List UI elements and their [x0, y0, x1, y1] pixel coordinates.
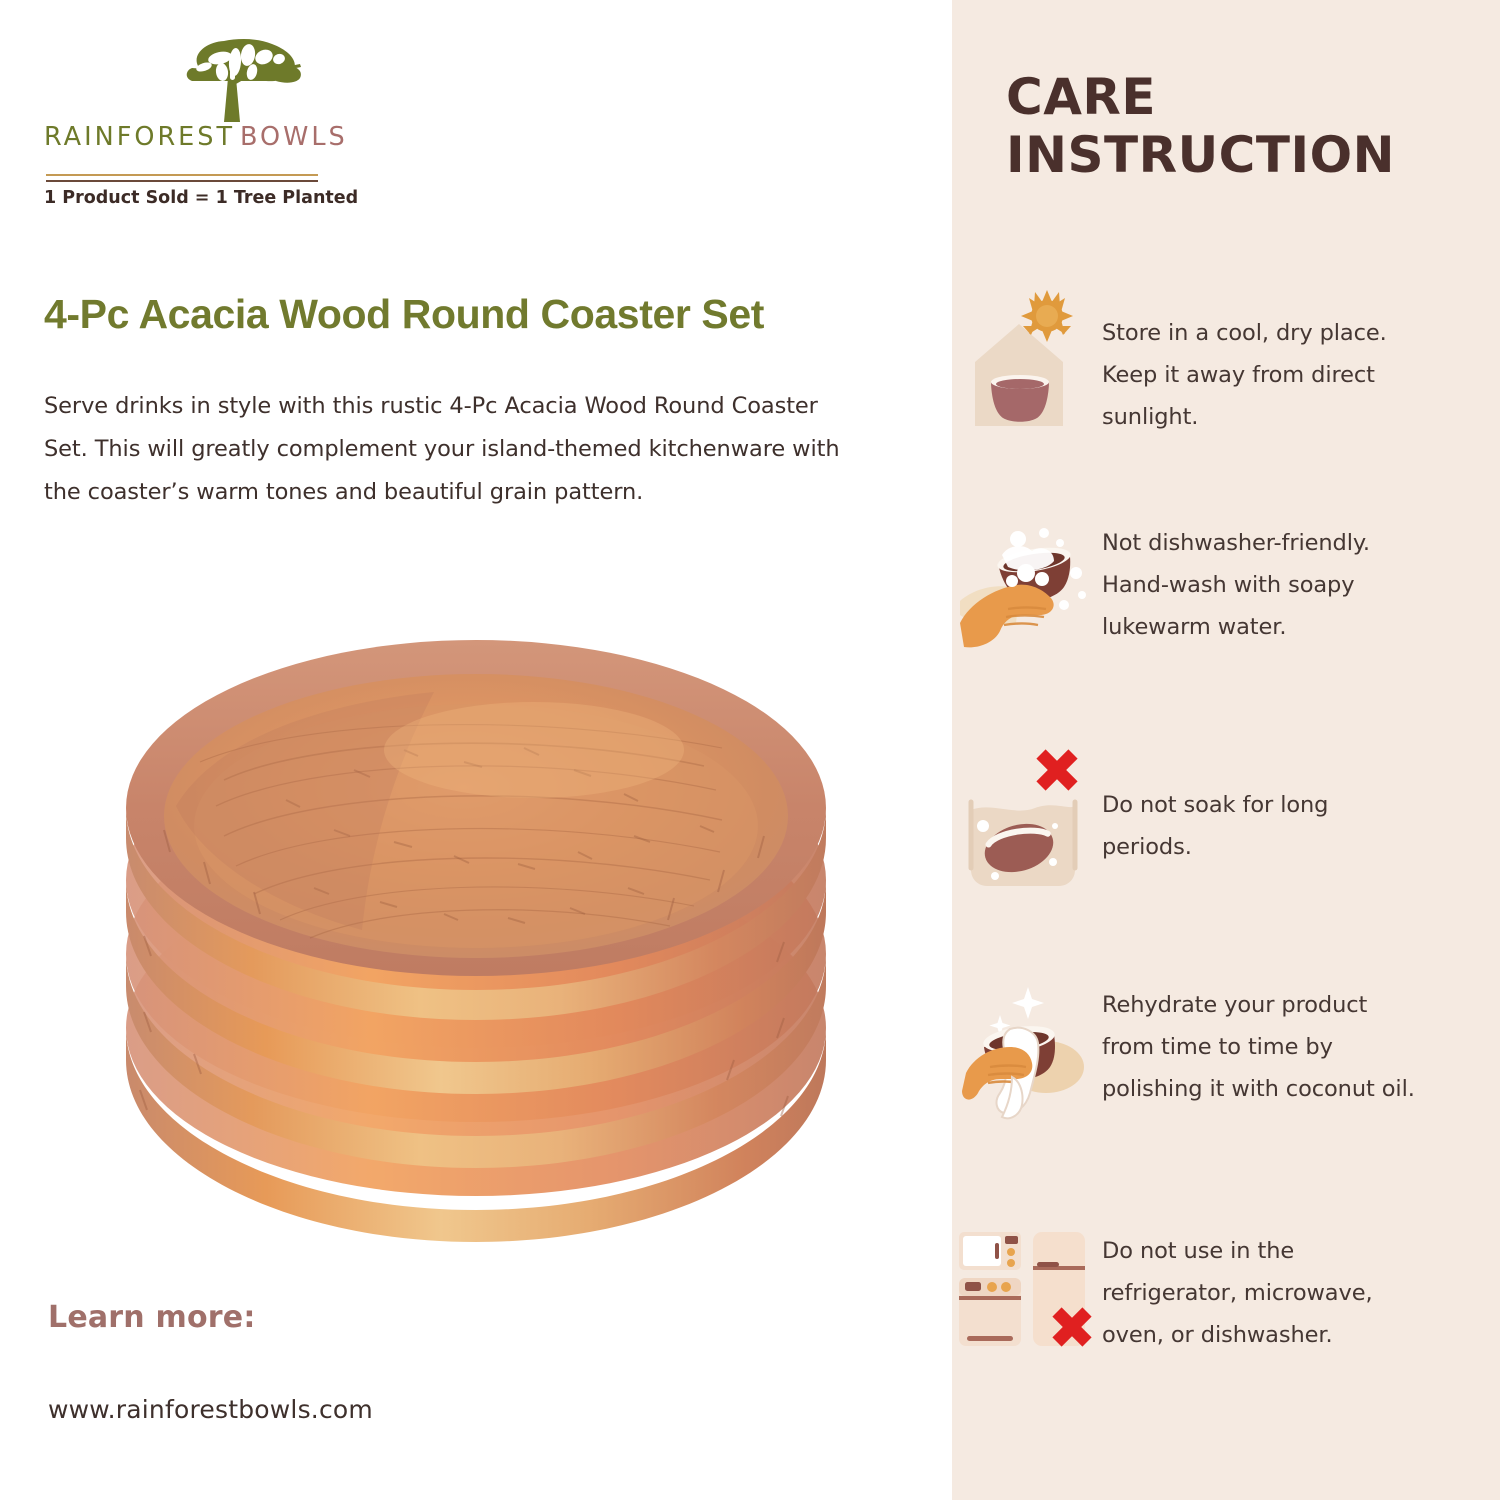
logo-word-rainforest: RAINFOREST: [44, 122, 235, 152]
product-title: 4-Pc Acacia Wood Round Coaster Set: [44, 290, 924, 338]
bowl-soaking-in-water-no-icon: [952, 744, 1102, 884]
care-item: Do not soak for long periods.: [952, 744, 1500, 894]
care-instruction-heading: CARE INSTRUCTION: [1006, 68, 1466, 184]
website-link[interactable]: www.rainforestbowls.com: [48, 1395, 373, 1424]
care-item: Rehydrate your product from time to time…: [952, 984, 1500, 1134]
care-item: Store in a cool, dry place. Keep it away…: [952, 290, 1500, 440]
house-bowl-sun-icon: [952, 290, 1102, 430]
microwave-dishwasher-refrigerator-no-icon: [952, 1220, 1102, 1360]
hand-washing-bowl-icon: [952, 522, 1102, 662]
logo-tagline: 1 Product Sold = 1 Tree Planted: [44, 188, 344, 208]
hand-polishing-bowl-cloth-icon: [952, 984, 1102, 1124]
logo-divider-brown: [46, 180, 318, 182]
care-instruction-list: Store in a cool, dry place. Keep it away…: [952, 290, 1500, 1370]
product-description: Serve drinks in style with this rustic 4…: [44, 385, 859, 514]
product-infographic: RAINFOREST BOWLS 1 Product Sold = 1 Tree…: [0, 0, 1500, 1500]
care-heading-line1: CARE: [1006, 68, 1466, 126]
care-item: Do not use in the refrigerator, microwav…: [952, 1220, 1500, 1370]
care-item-text: Do not use in the refrigerator, microwav…: [1102, 1220, 1422, 1356]
brand-logo: RAINFOREST BOWLS 1 Product Sold = 1 Tree…: [44, 36, 334, 166]
care-item-text: Do not soak for long periods.: [1102, 744, 1422, 868]
logo-tree-wrap: [44, 36, 334, 122]
care-item-text: Store in a cool, dry place. Keep it away…: [1102, 290, 1422, 438]
care-item-text: Rehydrate your product from time to time…: [1102, 984, 1422, 1110]
care-instruction-panel: CARE INSTRUCTION: [952, 0, 1500, 1500]
logo-word-bowls: BOWLS: [240, 122, 348, 152]
product-photo-stacked-coasters: [104, 630, 849, 1270]
learn-more-label: Learn more:: [48, 1300, 256, 1335]
left-panel: RAINFOREST BOWLS 1 Product Sold = 1 Tree…: [0, 0, 952, 1500]
logo-divider-gold: [46, 174, 318, 176]
care-item: Not dishwasher-friendly. Hand-wash with …: [952, 522, 1500, 672]
logo-wordmark: RAINFOREST BOWLS: [44, 122, 334, 166]
care-item-text: Not dishwasher-friendly. Hand-wash with …: [1102, 522, 1422, 648]
care-heading-line2: INSTRUCTION: [1006, 126, 1466, 184]
tree-icon: [162, 36, 312, 130]
